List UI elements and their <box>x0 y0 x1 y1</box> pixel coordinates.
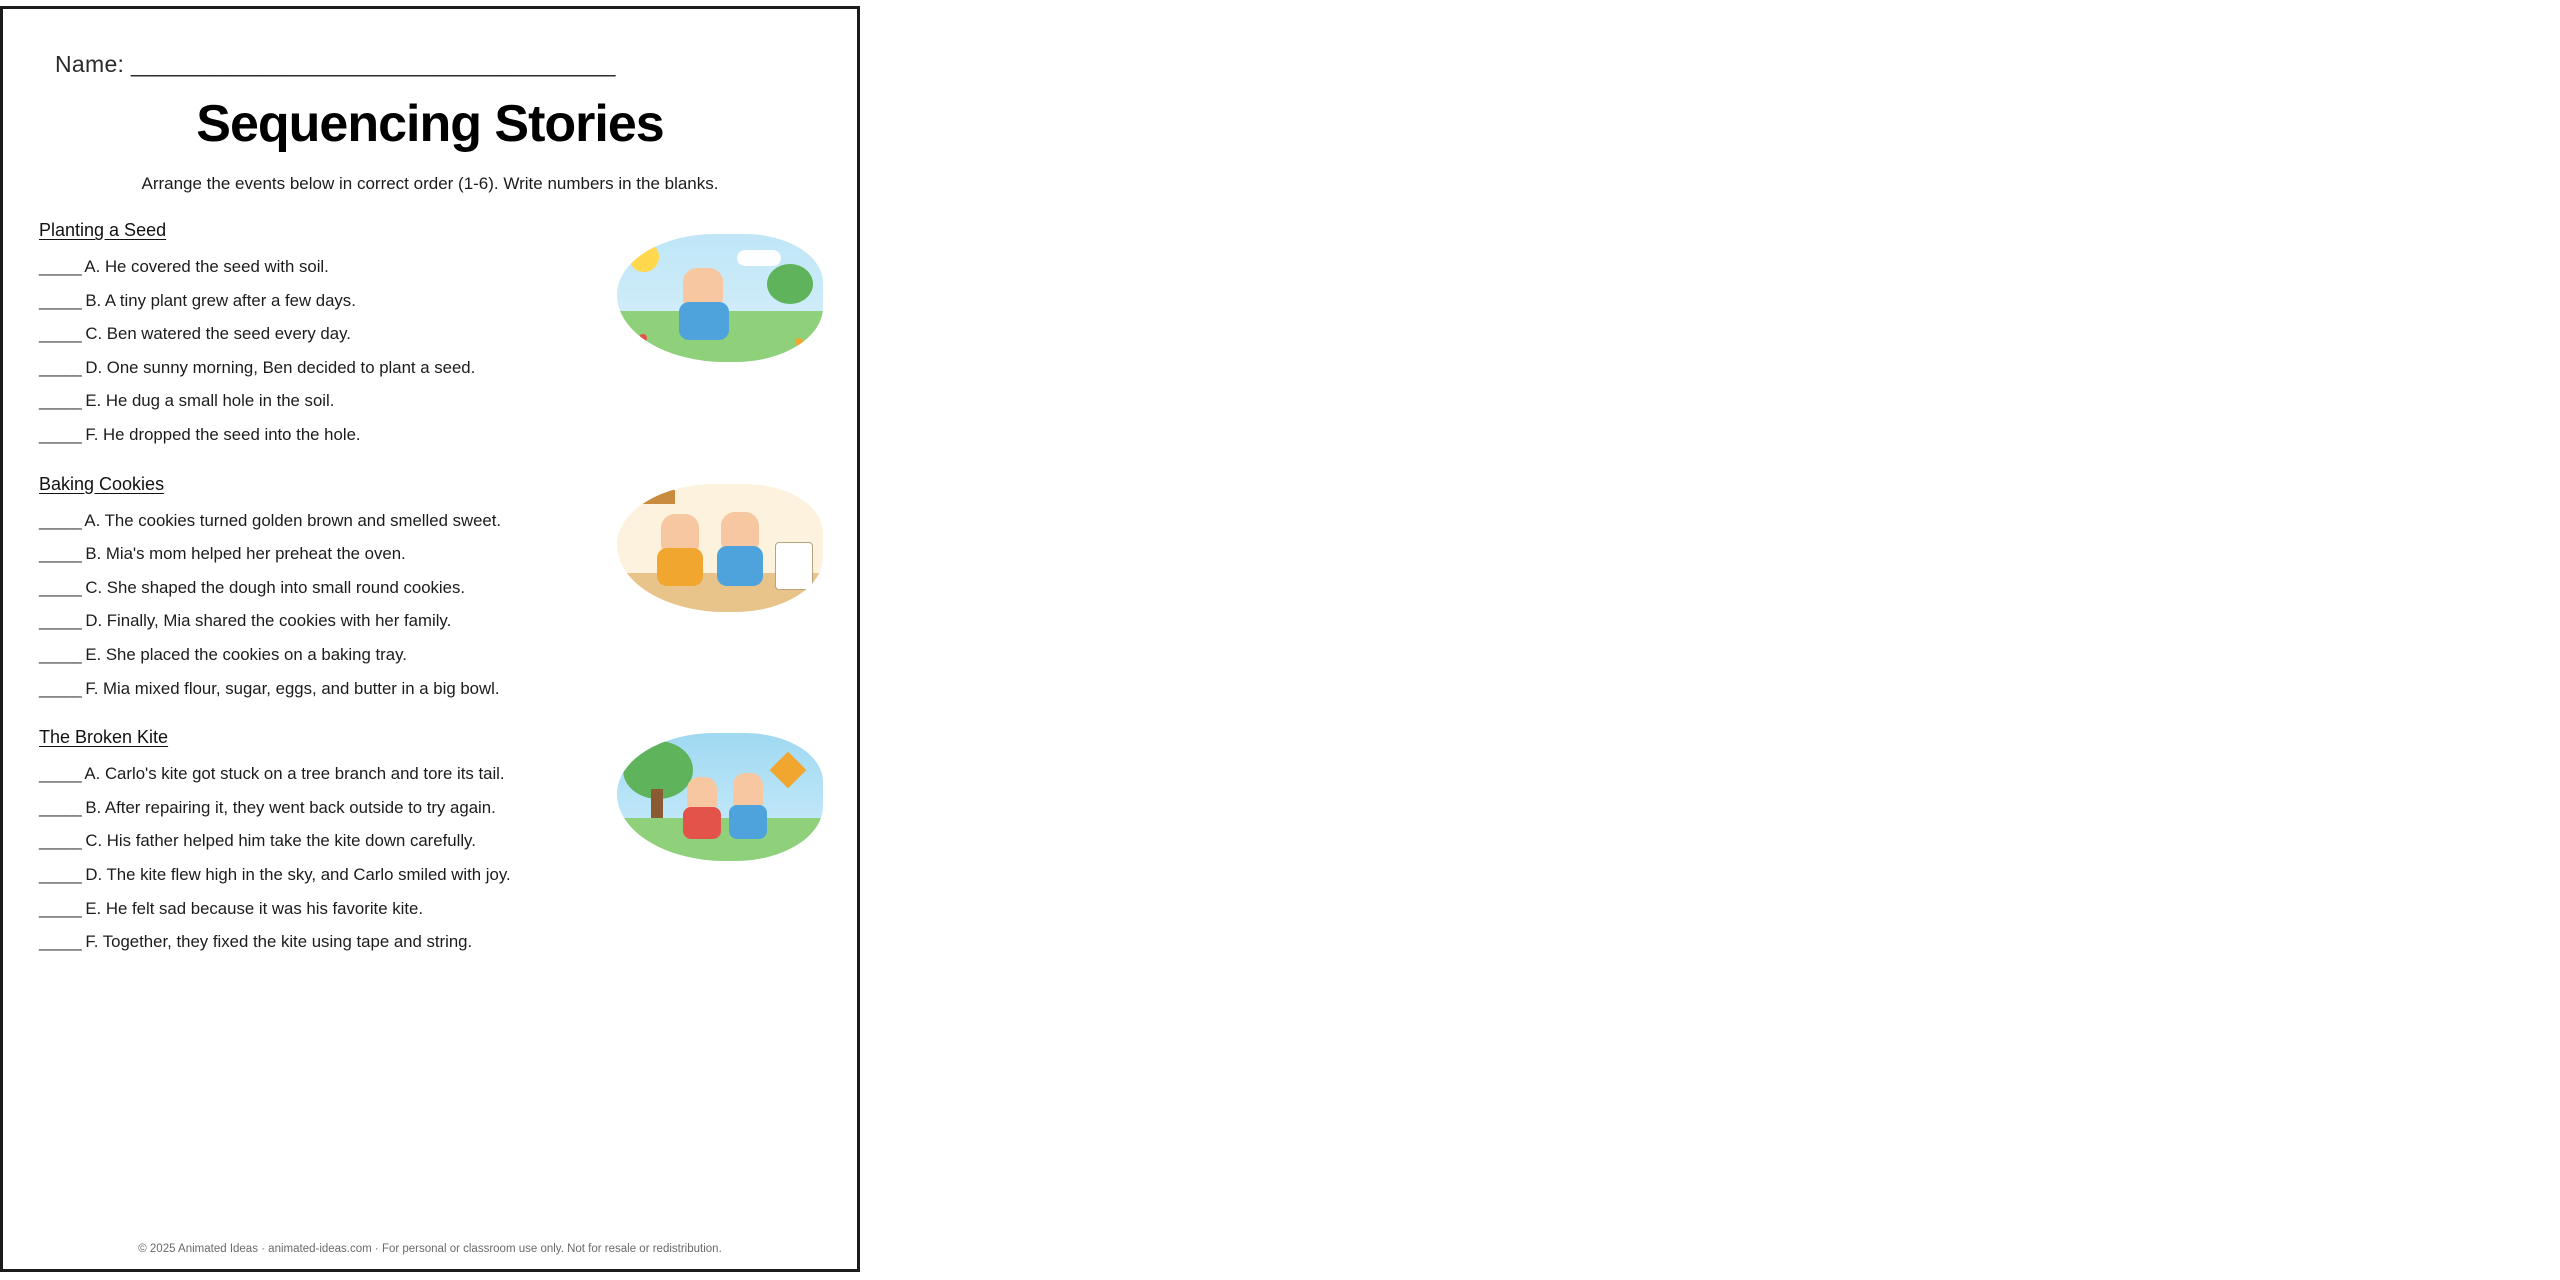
event-item[interactable]: _____ F. Mia mixed flour, sugar, eggs, a… <box>39 672 827 706</box>
event-blank[interactable]: _____ <box>39 511 81 530</box>
event-blank[interactable]: _____ <box>39 324 81 343</box>
event-label: D. Finally, Mia shared the cookies with … <box>85 611 451 630</box>
name-field-row[interactable]: Name: __________________________________… <box>55 51 827 78</box>
instructions: Arrange the events below in correct orde… <box>33 174 827 194</box>
event-label: A. He covered the seed with soil. <box>84 257 328 276</box>
event-label: B. A tiny plant grew after a few days. <box>85 291 356 310</box>
event-label: F. Mia mixed flour, sugar, eggs, and but… <box>85 679 499 698</box>
event-item[interactable]: _____ D. The kite flew high in the sky, … <box>39 858 827 892</box>
event-blank[interactable]: _____ <box>39 865 81 884</box>
name-label: Name: <box>55 51 124 77</box>
story-block-planting-a-seed: Planting a Seed _____ A. He covered the … <box>33 220 827 452</box>
event-blank[interactable]: _____ <box>39 679 81 698</box>
story-block-the-broken-kite: The Broken Kite _____ A. Carlo's kite go… <box>33 727 827 959</box>
event-label: D. One sunny morning, Ben decided to pla… <box>85 358 475 377</box>
worksheet-board: Name: __________________________________… <box>0 0 2560 1280</box>
event-label: E. He dug a small hole in the soil. <box>85 391 334 410</box>
event-blank[interactable]: _____ <box>39 932 81 951</box>
event-blank[interactable]: _____ <box>39 578 81 597</box>
event-blank[interactable]: _____ <box>39 645 81 664</box>
footer-copyright: © 2025 Animated Ideas · animated-ideas.c… <box>3 1243 857 1255</box>
event-blank[interactable]: _____ <box>39 831 81 850</box>
event-item[interactable]: _____ E. He felt sad because it was his … <box>39 892 827 926</box>
event-blank[interactable]: _____ <box>39 764 81 783</box>
event-blank[interactable]: _____ <box>39 899 81 918</box>
event-blank[interactable]: _____ <box>39 257 81 276</box>
event-label: C. His father helped him take the kite d… <box>85 831 476 850</box>
worksheet-panel-2: Sequencing the Events of a Narrative (At… <box>866 0 1694 1280</box>
story-block-baking-cookies: Baking Cookies _____ A. The cookies turn… <box>33 474 827 706</box>
event-label: E. He felt sad because it was his favori… <box>85 899 423 918</box>
event-item[interactable]: _____ E. She placed the cookies on a bak… <box>39 638 827 672</box>
event-item[interactable]: _____ F. He dropped the seed into the ho… <box>39 418 827 452</box>
event-item[interactable]: _____ F. Together, they fixed the kite u… <box>39 925 827 959</box>
worksheet-panel-3: Name: __________________________________… <box>1694 0 2560 1280</box>
event-label: F. He dropped the seed into the hole. <box>85 425 360 444</box>
event-label: A. Carlo's kite got stuck on a tree bran… <box>84 764 504 783</box>
broken-kite-illustration <box>617 733 823 861</box>
event-blank[interactable]: _____ <box>39 544 81 563</box>
event-label: B. After repairing it, they went back ou… <box>85 798 495 817</box>
baking-cookies-illustration <box>617 484 823 612</box>
event-label: C. Ben watered the seed every day. <box>85 324 351 343</box>
event-blank[interactable]: _____ <box>39 391 81 410</box>
event-blank[interactable]: _____ <box>39 425 81 444</box>
name-blank-line[interactable]: ________________________________________… <box>131 51 614 77</box>
event-label: E. She placed the cookies on a baking tr… <box>85 645 407 664</box>
page-title: Sequencing Stories <box>33 94 827 154</box>
event-label: F. Together, they fixed the kite using t… <box>85 932 472 951</box>
event-item[interactable]: _____ E. He dug a small hole in the soil… <box>39 384 827 418</box>
event-blank[interactable]: _____ <box>39 358 81 377</box>
worksheet-3-sheet: Name: __________________________________… <box>0 6 860 1272</box>
event-label: C. She shaped the dough into small round… <box>85 578 465 597</box>
event-blank[interactable]: _____ <box>39 291 81 310</box>
event-label: B. Mia's mom helped her preheat the oven… <box>85 544 405 563</box>
event-blank[interactable]: _____ <box>39 611 81 630</box>
event-blank[interactable]: _____ <box>39 798 81 817</box>
event-label: A. The cookies turned golden brown and s… <box>84 511 501 530</box>
planting-seed-illustration <box>617 234 823 362</box>
event-label: D. The kite flew high in the sky, and Ca… <box>85 865 510 884</box>
